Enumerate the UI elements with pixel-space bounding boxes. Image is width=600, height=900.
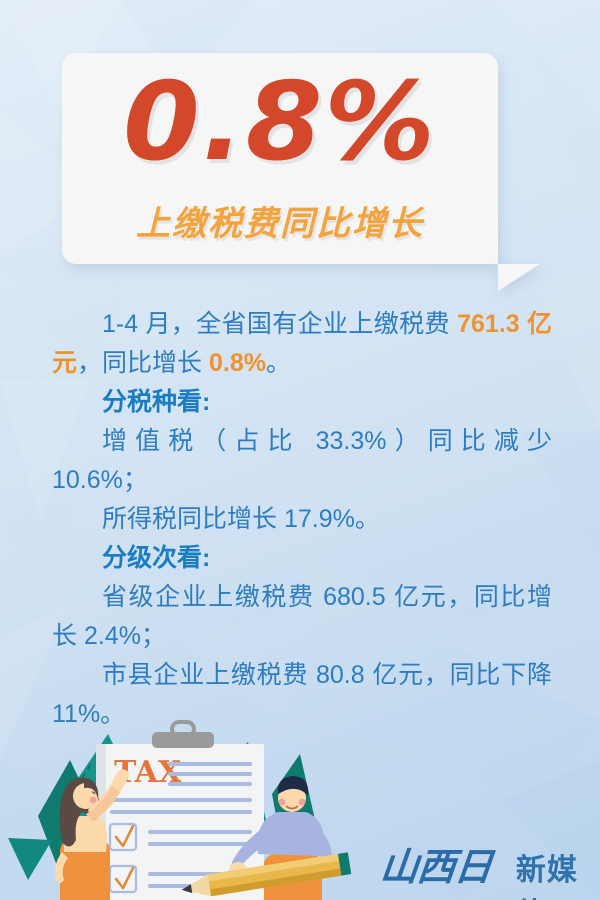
infographic-poster: 0.8% 上缴税费同比增长 1-4 月，全省国有企业上缴税费 761.3 亿元，… [0,0,600,900]
paragraph-provincial: 省级企业上缴税费 680.5 亿元，同比增长 2.4%； [52,578,552,656]
paragraph-vat: 增值税（占比 33.3%）同比减少 10.6%； [52,422,552,500]
logo-calligraphy: 山西日报 [372,836,517,900]
headline-card: 0.8% 上缴税费同比增长 [62,53,498,264]
summary-prefix: 1-4 月，全省国有企业上缴税费 [102,310,457,338]
summary-suffix: 。 [266,349,291,377]
headline-number: 0.8% [58,69,503,177]
paragraph-summary: 1-4 月，全省国有企业上缴税费 761.3 亿元，同比增长 0.8%。 [52,305,552,383]
section-heading-by-level: 分级次看: [52,539,552,578]
summary-value-growth: 0.8% [209,349,266,377]
section-heading-by-tax-type: 分税种看: [52,383,552,422]
body-copy: 1-4 月，全省国有企业上缴税费 761.3 亿元，同比增长 0.8%。 分税种… [52,305,552,734]
paragraph-income-tax: 所得税同比增长 17.9%。 [52,500,552,539]
publisher-logo: 山西日报 新媒体 [378,836,600,900]
headline-subtitle: 上缴税费同比增长 [62,196,498,245]
logo-subbrand: 新媒体 [516,845,600,900]
summary-mid: ，同比增长 [77,349,209,377]
speech-bubble-tail [498,264,540,291]
